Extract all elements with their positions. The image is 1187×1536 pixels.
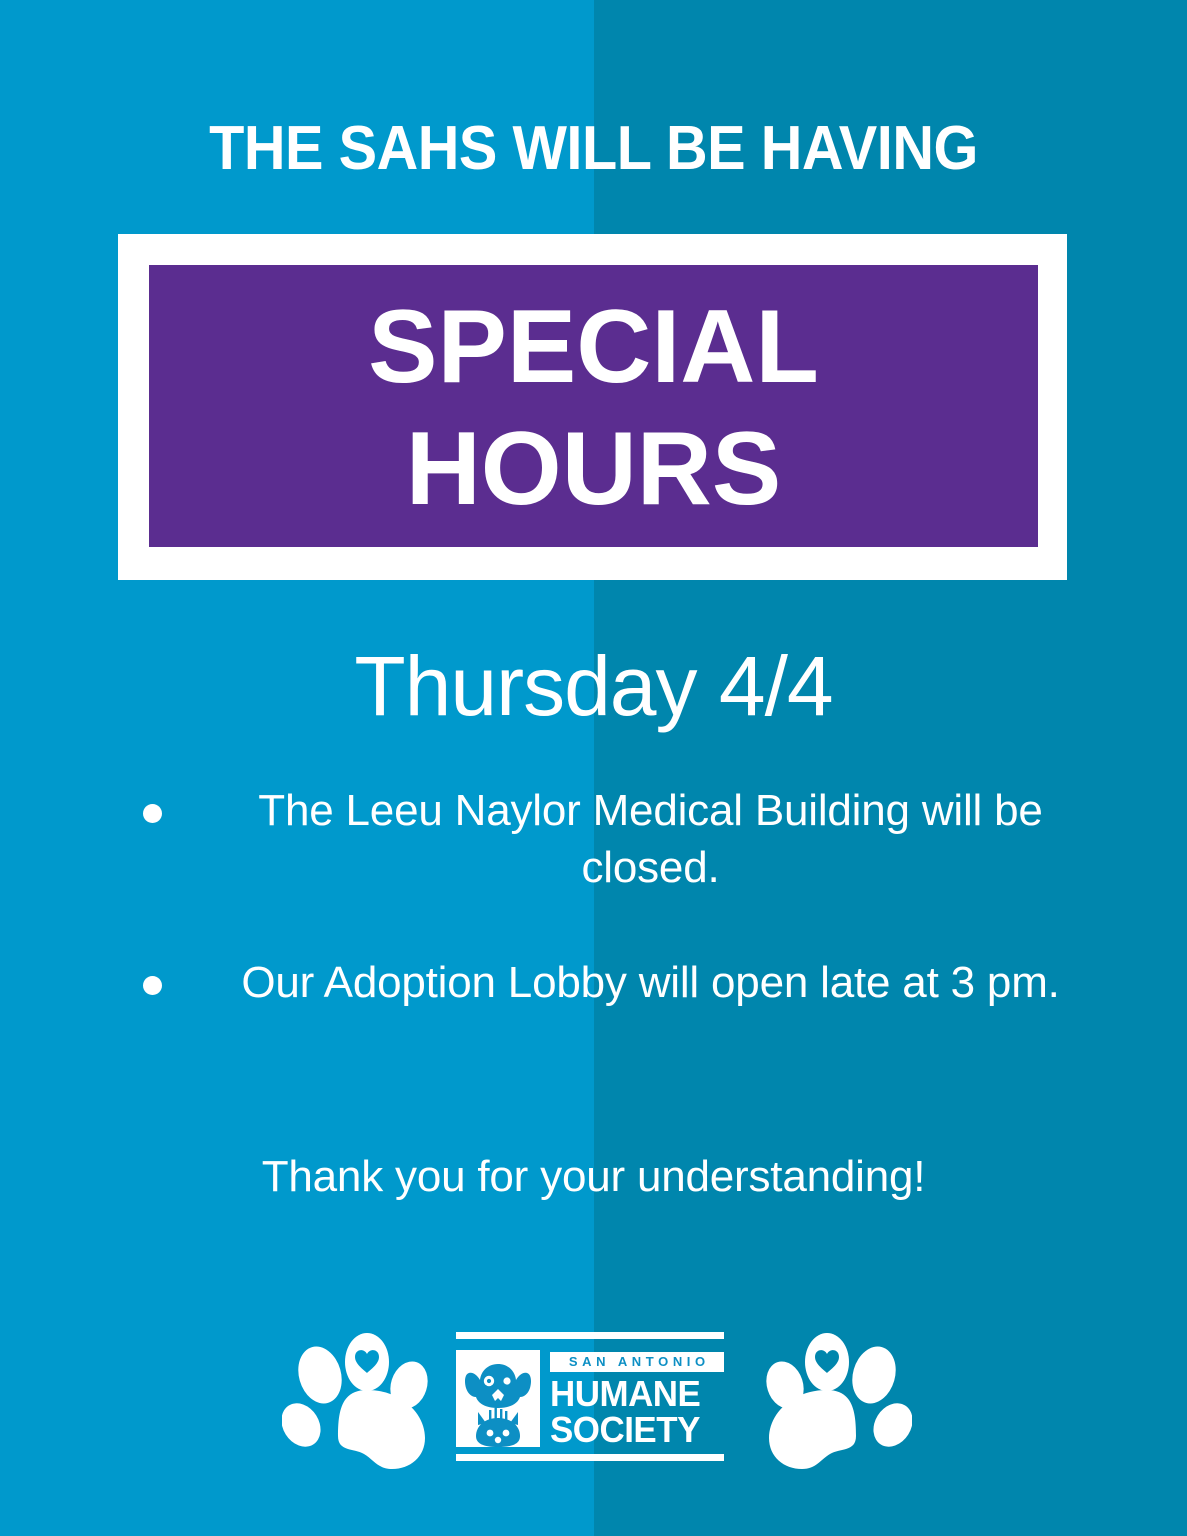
special-hours-line-2: HOURS [406, 413, 782, 525]
dog-head-icon [465, 1364, 531, 1408]
logo-rule-top [456, 1332, 724, 1339]
logo-name-line-2: SOCIETY [550, 1412, 721, 1448]
logo-rule-bottom [456, 1454, 724, 1461]
list-item-label: The Leeu Naylor Medical Building will be… [226, 782, 1075, 896]
list-item-label: Our Adoption Lobby will open late at 3 p… [226, 954, 1075, 1011]
closing-message: Thank you for your understanding! [0, 1148, 1187, 1205]
logo-name-line-1: HUMANE [550, 1376, 721, 1412]
logo-animal-mark [456, 1350, 540, 1447]
special-hours-banner: SPECIAL HOURS [118, 234, 1067, 580]
bullet-dot-icon [143, 804, 162, 823]
event-date: Thursday 4/4 [0, 636, 1187, 736]
paw-print-heart-icon [282, 1328, 442, 1473]
footer-branding: SAN ANTONIO HUMANE SOCIETY [0, 1328, 1187, 1478]
logo-city-label: SAN ANTONIO [550, 1352, 724, 1372]
bullet-dot-icon [143, 976, 162, 995]
list-item: The Leeu Naylor Medical Building will be… [0, 782, 1187, 896]
flyer-canvas: THE SAHS WILL BE HAVING SPECIAL HOURS Th… [0, 0, 1187, 1536]
san-antonio-humane-society-logo: SAN ANTONIO HUMANE SOCIETY [456, 1332, 724, 1468]
headline-text: THE SAHS WILL BE HAVING [42, 112, 1146, 186]
paw-print-heart-icon [752, 1328, 912, 1473]
special-hours-inner-box: SPECIAL HOURS [149, 265, 1038, 547]
notice-bullet-list: The Leeu Naylor Medical Building will be… [0, 782, 1187, 1069]
special-hours-line-1: SPECIAL [368, 291, 819, 403]
list-item: Our Adoption Lobby will open late at 3 p… [0, 954, 1187, 1011]
